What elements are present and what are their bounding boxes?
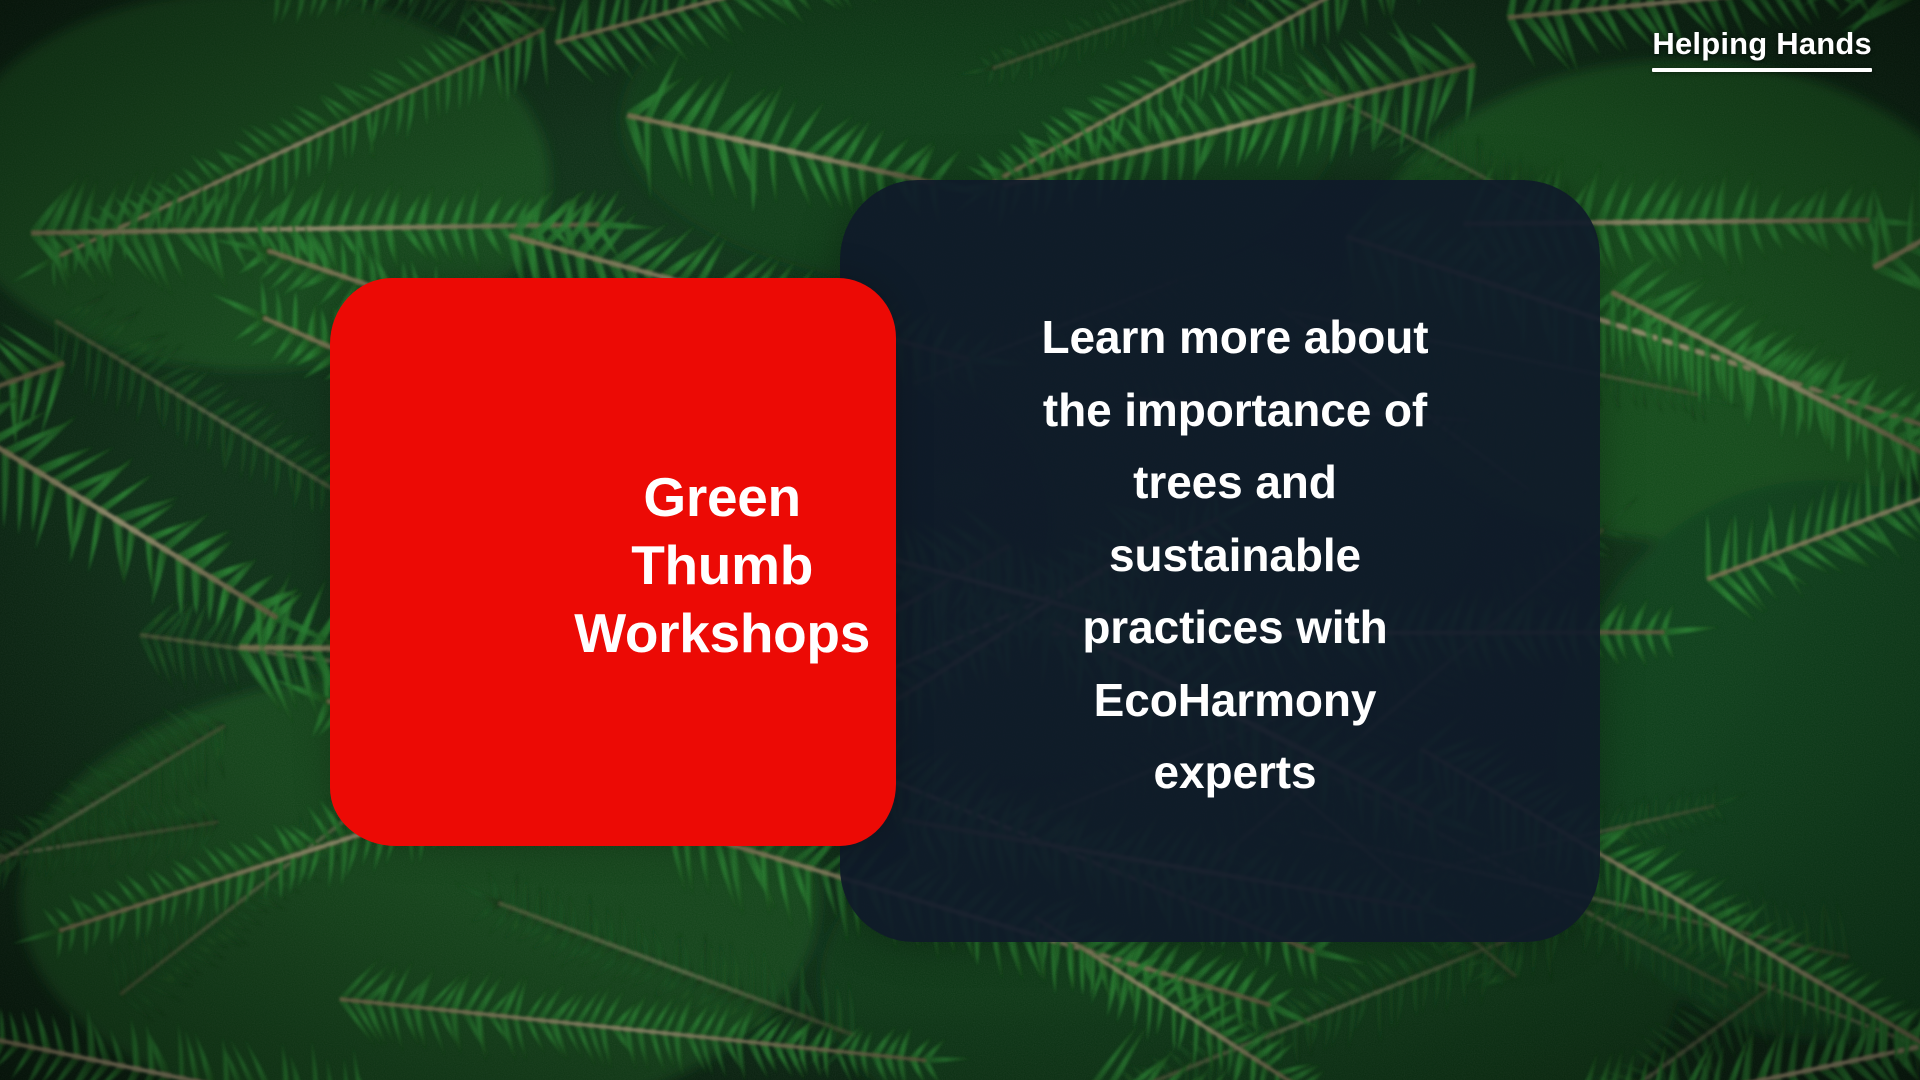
highlight-card: GreenThumbWorkshops [330,278,896,846]
description-card: Learn more aboutthe importance oftrees a… [840,180,1600,942]
slide-canvas: Helping Hands Learn more aboutthe import… [0,0,1920,1080]
brand-underline-rule [1652,68,1872,72]
description-card-text: Learn more aboutthe importance oftrees a… [958,301,1512,809]
brand-header: Helping Hands [1652,28,1872,72]
brand-name: Helping Hands [1652,28,1872,61]
highlight-card-title: GreenThumbWorkshops [574,463,870,667]
